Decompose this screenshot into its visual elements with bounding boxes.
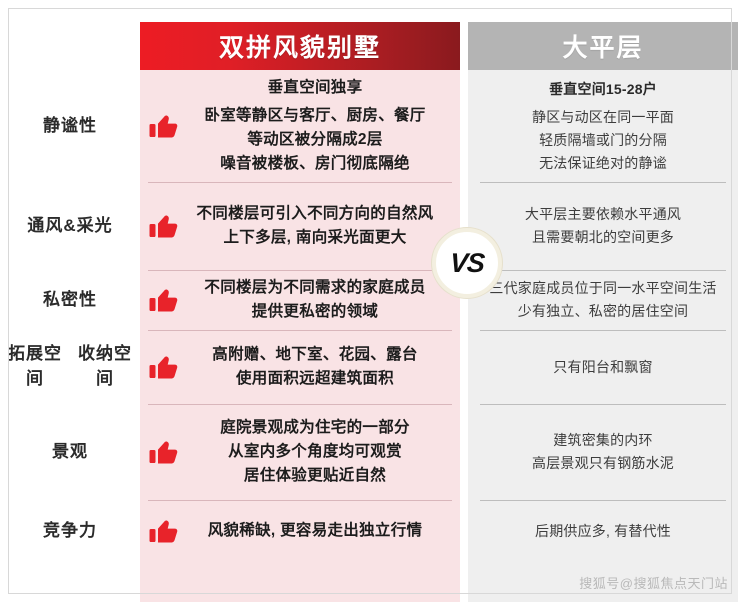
- villa-cell-line: 从室内多个角度均可观赏: [184, 440, 446, 464]
- header-gray-column-title: 大平层: [468, 22, 738, 70]
- flat-cell: 只有阳台和飘窗: [468, 330, 738, 404]
- flat-cell-line: 建筑密集的内环: [532, 429, 674, 452]
- comparison-grid: 双拼风貌别墅 大平层 静谧性通风&采光私密性拓展空间收纳空间景观竞争力 垂直空间…: [0, 0, 740, 602]
- watermark: 搜狐号@搜狐焦点天门站: [579, 573, 728, 592]
- row-label: 拓展空间收纳空间: [0, 330, 140, 404]
- flat-cell-line: 少有独立、私密的居住空间: [489, 300, 716, 323]
- comparison-infographic: 双拼风貌别墅 大平层 静谧性通风&采光私密性拓展空间收纳空间景观竞争力 垂直空间…: [0, 0, 740, 602]
- thumbs-up-icon: [148, 209, 182, 243]
- row-label-column: 静谧性通风&采光私密性拓展空间收纳空间景观竞争力: [0, 70, 140, 602]
- row-label-line: 私密性: [43, 288, 97, 313]
- flat-cell-line: 轻质隔墙或门的分隔: [532, 129, 674, 152]
- villa-cell-line: 上下多层, 南向采光面更大: [184, 226, 446, 250]
- villa-cell-text: 垂直空间独享卧室等静区与客厅、厨房、餐厅等动区被分隔成2层噪音被楼板、房门彻底隔…: [184, 76, 450, 176]
- flat-cell-line: 且需要朝北的空间更多: [525, 226, 681, 249]
- villa-cell-line: 噪音被楼板、房门彻底隔绝: [184, 152, 446, 176]
- thumbs-up-icon: [148, 109, 182, 143]
- villa-cell: 不同楼层为不同需求的家庭成员提供更私密的领域: [140, 270, 460, 330]
- flat-cell-text: 三代家庭成员位于同一水平空间生活少有独立、私密的居住空间: [489, 277, 716, 322]
- flat-cell-line: 高层景观只有钢筋水泥: [532, 452, 674, 475]
- villa-cell: 庭院景观成为住宅的一部分从室内多个角度均可观赏居住体验更贴近自然: [140, 404, 460, 500]
- villa-cell-line: 不同楼层为不同需求的家庭成员: [184, 276, 446, 300]
- flat-column: 垂直空间15-28户静区与动区在同一平面轻质隔墙或门的分隔无法保证绝对的静谧大平…: [468, 70, 738, 602]
- villa-cell: 风貌稀缺, 更容易走出独立行情: [140, 500, 460, 562]
- row-label: 竞争力: [0, 500, 140, 562]
- thumbs-up-icon: [148, 283, 182, 317]
- villa-cell-line: 庭院景观成为住宅的一部分: [184, 416, 446, 440]
- villa-cell: 高附赠、地下室、花园、露台使用面积远超建筑面积: [140, 330, 460, 404]
- villa-column: 垂直空间独享卧室等静区与客厅、厨房、餐厅等动区被分隔成2层噪音被楼板、房门彻底隔…: [140, 70, 460, 602]
- flat-cell-line: 大平层主要依赖水平通风: [525, 203, 681, 226]
- villa-cell-line: 等动区被分隔成2层: [184, 128, 446, 152]
- villa-cell-line: 提供更私密的领域: [184, 300, 446, 324]
- villa-cell-lead: 垂直空间独享: [184, 76, 446, 100]
- villa-cell-text: 风貌稀缺, 更容易走出独立行情: [184, 519, 450, 543]
- villa-cell-text: 不同楼层为不同需求的家庭成员提供更私密的领域: [184, 276, 450, 324]
- row-label-line: 静谧性: [43, 114, 97, 139]
- villa-cell-line: 高附赠、地下室、花园、露台: [184, 343, 446, 367]
- column-footer-space: [0, 562, 140, 602]
- flat-cell: 垂直空间15-28户静区与动区在同一平面轻质隔墙或门的分隔无法保证绝对的静谧: [468, 70, 738, 182]
- villa-cell-text: 不同楼层可引入不同方向的自然风上下多层, 南向采光面更大: [184, 202, 450, 250]
- villa-cell-text: 高附赠、地下室、花园、露台使用面积远超建筑面积: [184, 343, 450, 391]
- flat-cell-text: 只有阳台和飘窗: [553, 356, 652, 379]
- row-label: 私密性: [0, 270, 140, 330]
- villa-cell: 不同楼层可引入不同方向的自然风上下多层, 南向采光面更大: [140, 182, 460, 270]
- villa-cell-line: 居住体验更贴近自然: [184, 464, 446, 488]
- row-label-line: 收纳空间: [70, 342, 140, 391]
- thumbs-up-icon: [148, 435, 182, 469]
- header-gap: [460, 22, 468, 70]
- villa-cell-line: 风貌稀缺, 更容易走出独立行情: [184, 519, 446, 543]
- column-footer-space: [140, 562, 460, 602]
- row-label-line: 竞争力: [43, 519, 97, 544]
- vs-badge: VS: [432, 228, 502, 298]
- row-label-line: 通风&采光: [27, 214, 112, 239]
- flat-cell: 三代家庭成员位于同一水平空间生活少有独立、私密的居住空间: [468, 270, 738, 330]
- flat-cell: 建筑密集的内环高层景观只有钢筋水泥: [468, 404, 738, 500]
- row-label-line: 景观: [52, 440, 88, 465]
- flat-cell-text: 大平层主要依赖水平通风且需要朝北的空间更多: [525, 203, 681, 248]
- column-spacer: [460, 70, 468, 602]
- flat-cell-text: 后期供应多, 有替代性: [535, 520, 671, 543]
- header-spacer-left: [0, 22, 140, 70]
- villa-cell-line: 卧室等静区与客厅、厨房、餐厅: [184, 104, 446, 128]
- row-label: 景观: [0, 404, 140, 500]
- row-label-line: 拓展空间: [0, 342, 70, 391]
- flat-cell: 后期供应多, 有替代性: [468, 500, 738, 562]
- flat-cell-line: 后期供应多, 有替代性: [535, 520, 671, 543]
- villa-cell-text: 庭院景观成为住宅的一部分从室内多个角度均可观赏居住体验更贴近自然: [184, 416, 450, 488]
- flat-cell: 大平层主要依赖水平通风且需要朝北的空间更多: [468, 182, 738, 270]
- flat-cell-line: 只有阳台和飘窗: [553, 356, 652, 379]
- thumbs-up-icon: [148, 514, 182, 548]
- villa-cell-line: 使用面积远超建筑面积: [184, 367, 446, 391]
- flat-cell-line: 静区与动区在同一平面: [532, 106, 674, 129]
- vs-badge-label: VS: [449, 248, 485, 279]
- row-label: 静谧性: [0, 70, 140, 182]
- flat-cell-lead: 垂直空间15-28户: [532, 78, 674, 101]
- row-label: 通风&采光: [0, 182, 140, 270]
- flat-cell-line: 三代家庭成员位于同一水平空间生活: [489, 277, 716, 300]
- flat-cell-line: 无法保证绝对的静谧: [532, 152, 674, 175]
- flat-cell-text: 建筑密集的内环高层景观只有钢筋水泥: [532, 429, 674, 474]
- header-red-column-title: 双拼风貌别墅: [140, 22, 460, 70]
- villa-cell: 垂直空间独享卧室等静区与客厅、厨房、餐厅等动区被分隔成2层噪音被楼板、房门彻底隔…: [140, 70, 460, 182]
- villa-cell-line: 不同楼层可引入不同方向的自然风: [184, 202, 446, 226]
- thumbs-up-icon: [148, 350, 182, 384]
- flat-cell-text: 垂直空间15-28户静区与动区在同一平面轻质隔墙或门的分隔无法保证绝对的静谧: [532, 78, 674, 175]
